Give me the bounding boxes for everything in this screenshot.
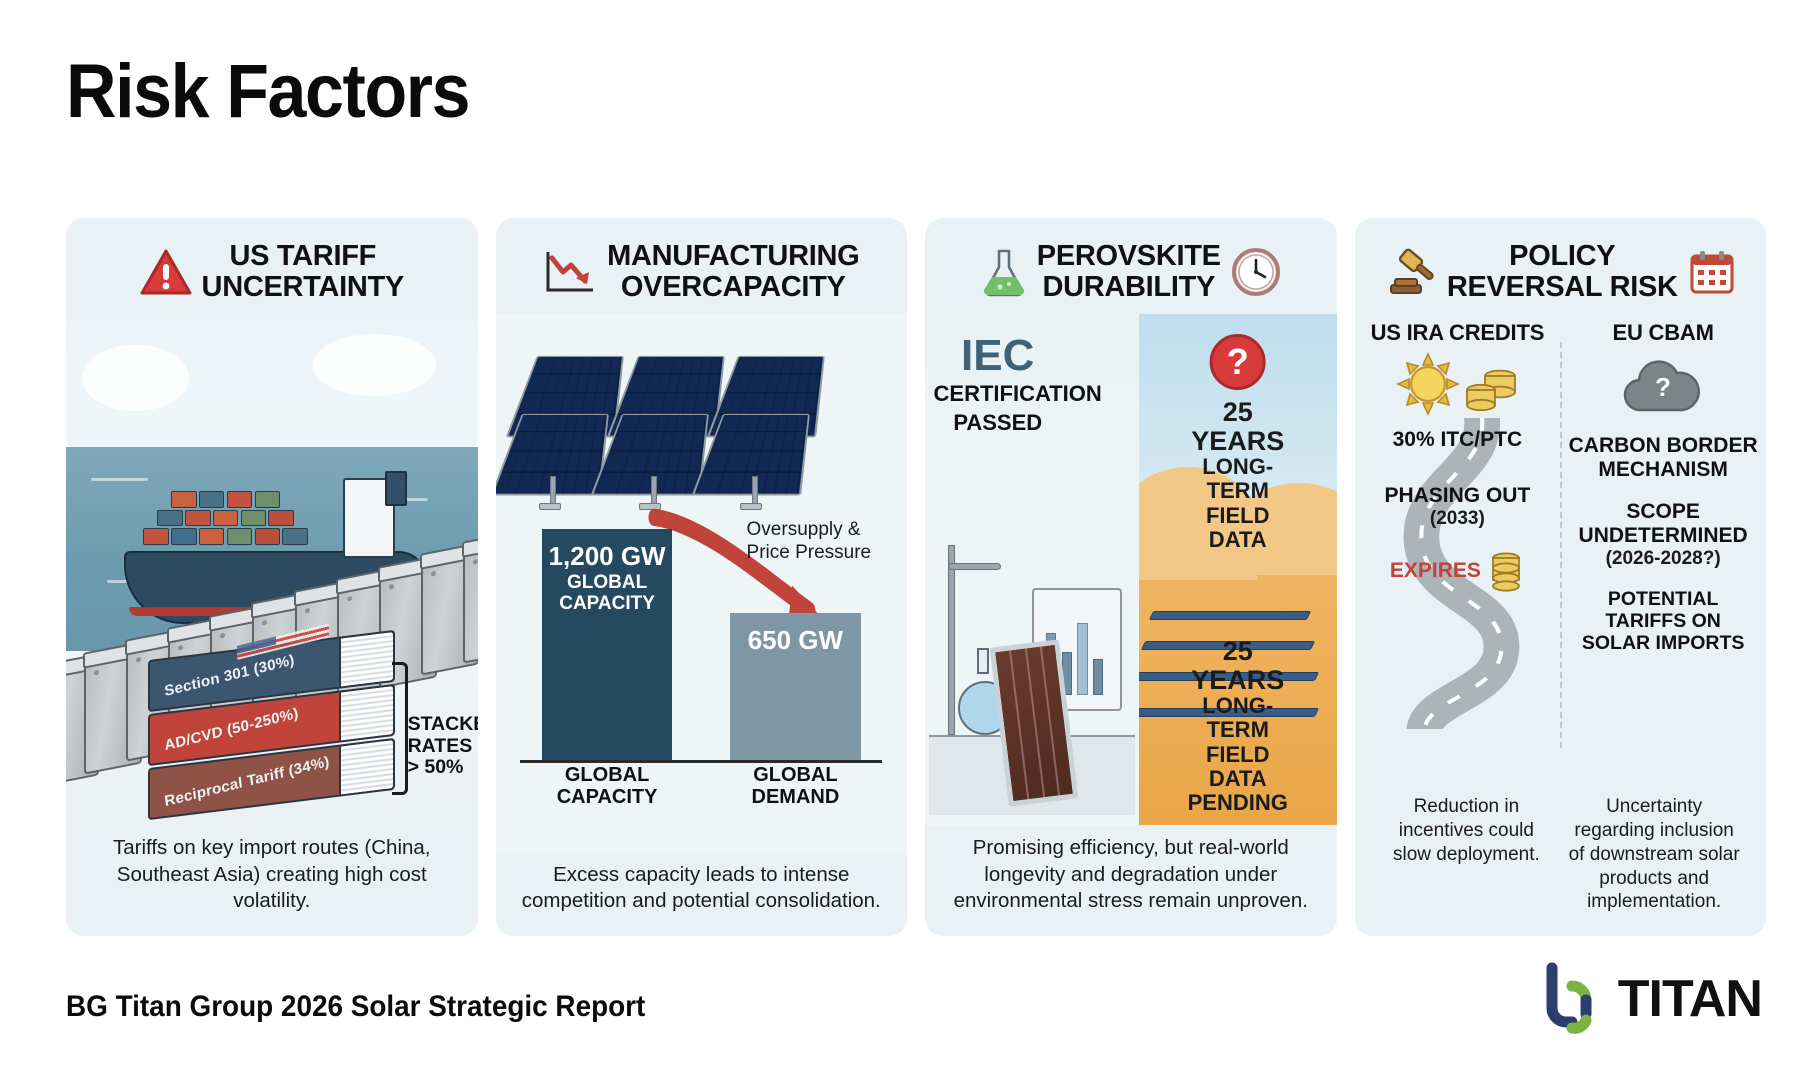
badge-bottom-sub3: PENDING <box>1188 791 1288 815</box>
undetermined-line: UNDETERMINED <box>1568 524 1758 548</box>
card-4-caption: Reduction in incentives could slow deplo… <box>1355 785 1767 936</box>
card-2-illustration: Oversupply & Price Pressure 1,200 GW GLO… <box>496 314 908 852</box>
coin-stack-icon <box>1464 364 1518 416</box>
card-perovskite-durability[interactable]: PEROVSKITE DURABILITY <box>925 218 1337 936</box>
book-label-0: Section 301 (30%) <box>150 651 296 703</box>
bg-titan-mark-icon <box>1534 962 1608 1036</box>
stacked-rates-line3: > 50% <box>408 757 474 779</box>
card-2-caption: Excess capacity leads to intense competi… <box>496 852 908 936</box>
solar-panel-array-illustration <box>508 325 895 519</box>
card-2-title: MANUFACTURING OVERCAPACITY <box>607 241 859 304</box>
card-3-caption: Promising efficiency, but real-world lon… <box>925 825 1337 936</box>
bar-value-1: 650 GW <box>748 627 843 654</box>
card-policy-reversal-risk[interactable]: POLICY REVERSAL RISK <box>1355 218 1767 936</box>
gavel-icon <box>1385 247 1437 297</box>
risk-factor-cards: US TARIFF UNCERTAINTY <box>66 218 1766 936</box>
phasing-out-year: (2033) <box>1363 508 1553 530</box>
card-4-header: POLICY REVERSAL RISK <box>1355 218 1767 314</box>
card-3-header: PEROVSKITE DURABILITY <box>925 218 1337 314</box>
iec-sub-line2: PASSED <box>934 411 1062 435</box>
bar-value-0: 1,200 GW <box>549 543 666 570</box>
bar-sublabel-0: GLOBAL CAPACITY <box>542 573 672 615</box>
titan-logo: TITAN <box>1534 962 1762 1036</box>
stacked-rates-line1: STACKED <box>408 714 474 736</box>
cloud-question-icon: ? <box>1619 356 1707 418</box>
column-us-ira-credits: US IRA CREDITS <box>1355 314 1561 785</box>
us-ira-header: US IRA CREDITS <box>1363 320 1553 346</box>
carbon-border-line2: MECHANISM <box>1568 458 1758 482</box>
card-4-title-line1: POLICY <box>1447 241 1678 272</box>
badge-top-big: 25 YEARS <box>1188 398 1287 455</box>
card-2-title-line2: OVERCAPACITY <box>607 272 859 303</box>
bar-global-capacity: 1,200 GW GLOBAL CAPACITY <box>542 529 672 764</box>
card-3-title-line2: DURABILITY <box>1037 272 1221 303</box>
question-mark-icon: ? <box>1210 334 1266 390</box>
solar-imports-line: SOLAR IMPORTS <box>1568 632 1758 654</box>
tariffs-on-line: TARIFFS ON <box>1568 610 1758 632</box>
coin-stack-small-icon <box>1487 550 1525 592</box>
card-4-title-line2: REVERSAL RISK <box>1447 272 1678 303</box>
field-data-badge-top: ? 25 YEARS LONG-TERM FIELD DATA <box>1188 334 1287 551</box>
tariff-book-stack: Section 301 (30%) AD/CVD (50-250%) Recip… <box>148 631 395 805</box>
card-4-caption-left: Reduction in incentives could slow deplo… <box>1373 795 1561 914</box>
cbam-years: (2026-2028?) <box>1568 548 1758 570</box>
card-2-title-line1: MANUFACTURING <box>607 241 859 272</box>
card-manufacturing-overcapacity[interactable]: MANUFACTURING OVERCAPACITY <box>496 218 908 936</box>
svg-text:?: ? <box>1655 372 1671 402</box>
iec-label: IEC <box>934 334 1062 378</box>
badge-top-sub2: FIELD DATA <box>1188 504 1287 552</box>
card-4-illustration: US IRA CREDITS <box>1355 314 1767 785</box>
warning-triangle-icon <box>140 248 192 296</box>
sun-icon <box>1396 352 1460 416</box>
desert-field-scene: ? 25 YEARS LONG-TERM FIELD DATA 25 YEARS… <box>1139 314 1337 825</box>
phasing-out-line: PHASING OUT <box>1363 484 1553 508</box>
page-title: Risk Factors <box>66 48 469 135</box>
stacked-rates-line2: RATES <box>408 736 474 758</box>
badge-bottom-sub1: LONG-TERM <box>1188 694 1288 742</box>
lab-scene: IEC CERTIFICATION PASSED <box>925 314 1139 825</box>
itc-ptc-line: 30% ITC/PTC <box>1363 428 1553 452</box>
book-label-1: AD/CVD (50-250%) <box>150 704 300 757</box>
card-3-title-line1: PEROVSKITE <box>1037 241 1221 272</box>
carbon-border-line1: CARBON BORDER <box>1568 434 1758 458</box>
card-1-caption: Tariffs on key import routes (China, Sou… <box>66 825 478 936</box>
card-3-title: PEROVSKITE DURABILITY <box>1037 241 1221 304</box>
clock-icon <box>1231 247 1281 297</box>
badge-top-sub1: LONG-TERM <box>1188 455 1287 503</box>
downward-trend-icon <box>543 248 597 296</box>
footer-report-label: BG Titan Group 2026 Solar Strategic Repo… <box>66 990 645 1024</box>
bar-global-demand: 650 GW <box>730 613 860 764</box>
badge-bottom-sub2: FIELD DATA <box>1188 743 1288 791</box>
calendar-icon <box>1688 248 1736 296</box>
bar-xlabel-0: GLOBAL CAPACITY <box>538 764 676 809</box>
card-4-title: POLICY REVERSAL RISK <box>1447 241 1678 304</box>
badge-bottom-big: 25 YEARS <box>1188 637 1288 694</box>
field-data-badge-bottom: 25 YEARS LONG-TERM FIELD DATA PENDING <box>1188 629 1288 815</box>
stacked-rates-bracket <box>392 662 408 795</box>
card-2-header: MANUFACTURING OVERCAPACITY <box>496 218 908 314</box>
capacity-demand-bar-chart: 1,200 GW GLOBAL CAPACITY 650 GW GLOBAL C… <box>520 508 882 809</box>
scope-line: SCOPE <box>1568 500 1758 524</box>
eu-cbam-header: EU CBAM <box>1568 320 1758 346</box>
column-eu-cbam: EU CBAM ? CARBON BORDER MECHANISM SCO <box>1560 314 1766 785</box>
card-4-caption-right: Uncertainty regarding inclusion of downs… <box>1560 795 1748 914</box>
card-3-illustration: IEC CERTIFICATION PASSED <box>925 314 1337 825</box>
potential-line: POTENTIAL <box>1568 588 1758 610</box>
iec-sub-line1: CERTIFICATION <box>934 382 1062 406</box>
stacked-rates-callout: STACKED RATES > 50% <box>408 714 474 779</box>
card-1-illustration: Section 301 (30%) AD/CVD (50-250%) Recip… <box>66 314 478 825</box>
iec-certification-block: IEC CERTIFICATION PASSED <box>934 334 1062 434</box>
card-1-title: US TARIFF UNCERTAINTY <box>202 241 404 304</box>
flask-icon <box>981 247 1027 297</box>
logo-wordmark: TITAN <box>1618 969 1762 1029</box>
expires-label: EXPIRES <box>1390 559 1481 583</box>
infographic-page: Risk Factors US TARIFF UNCERTAINTY <box>0 0 1820 1080</box>
card-1-title-line1: US TARIFF <box>202 241 404 272</box>
card-1-header: US TARIFF UNCERTAINTY <box>66 218 478 314</box>
card-us-tariff-uncertainty[interactable]: US TARIFF UNCERTAINTY <box>66 218 478 936</box>
card-1-title-line2: UNCERTAINTY <box>202 272 404 303</box>
bar-xlabel-1: GLOBAL DEMAND <box>727 764 865 809</box>
